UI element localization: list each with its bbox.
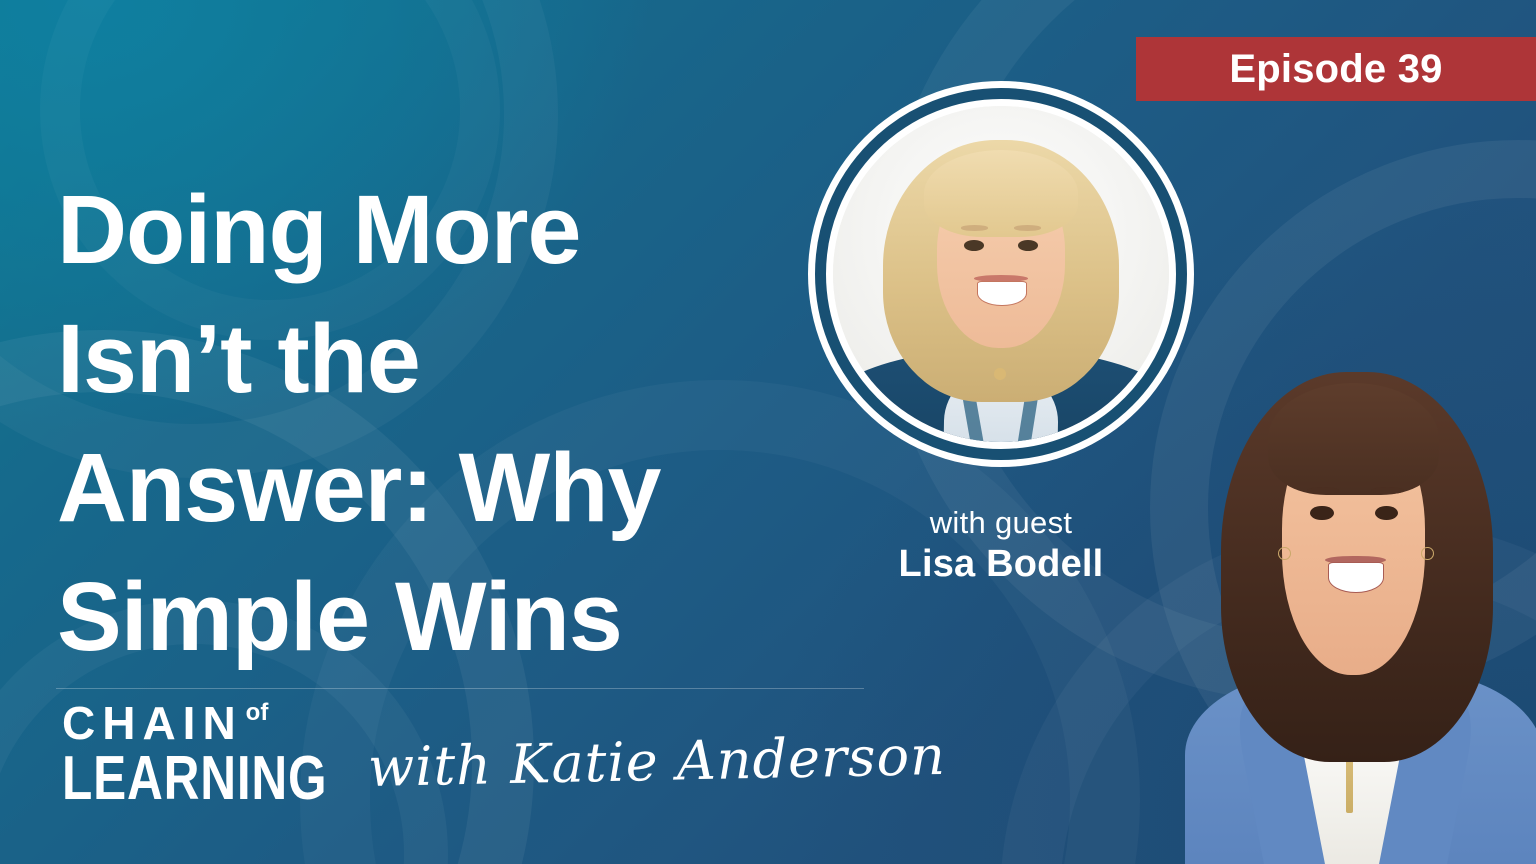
guest-hair-fringe <box>924 150 1079 237</box>
host-eye-right <box>1375 506 1398 520</box>
episode-badge-label: Episode 39 <box>1229 47 1442 92</box>
host-eye-left <box>1310 506 1333 520</box>
brand-logo: CHAIN of LEARNING <box>62 700 394 808</box>
episode-badge: Episode 39 <box>1136 37 1536 101</box>
guest-portrait-avatar <box>812 85 1190 463</box>
host-hair-fringe <box>1268 383 1440 496</box>
episode-title: Doing More Isn’t the Answer: Why Simple … <box>57 165 847 681</box>
guest-eye-right <box>1018 240 1038 251</box>
footer-divider <box>56 688 864 689</box>
host-eyebrow-left <box>1307 487 1339 494</box>
guest-portrait-photo <box>833 106 1169 442</box>
brand-word-of: of <box>246 701 269 725</box>
guest-smile <box>977 281 1026 307</box>
guest-with-label: with guest <box>812 506 1190 541</box>
guest-caption: with guest Lisa Bodell <box>812 506 1190 588</box>
guest-name: Lisa Bodell <box>812 541 1190 589</box>
guest-necklace-pendant <box>994 368 1006 380</box>
host-portrait-cutout <box>1178 352 1536 864</box>
host-byline: with Katie Anderson <box>367 724 946 799</box>
host-earring-right <box>1421 547 1434 560</box>
brand-logo-row-top: CHAIN of <box>62 700 394 746</box>
host-eyebrow-right <box>1371 487 1403 494</box>
brand-word-learning: LEARNING <box>62 750 327 808</box>
guest-eyebrow-right <box>1014 225 1041 230</box>
podcast-episode-cover: Episode 39 Doing More Isn’t the Answer: … <box>0 0 1536 864</box>
host-earring-left <box>1278 547 1291 560</box>
guest-eyebrow-left <box>961 225 988 230</box>
brand-word-chain: CHAIN <box>62 700 243 746</box>
host-smile <box>1328 562 1384 593</box>
